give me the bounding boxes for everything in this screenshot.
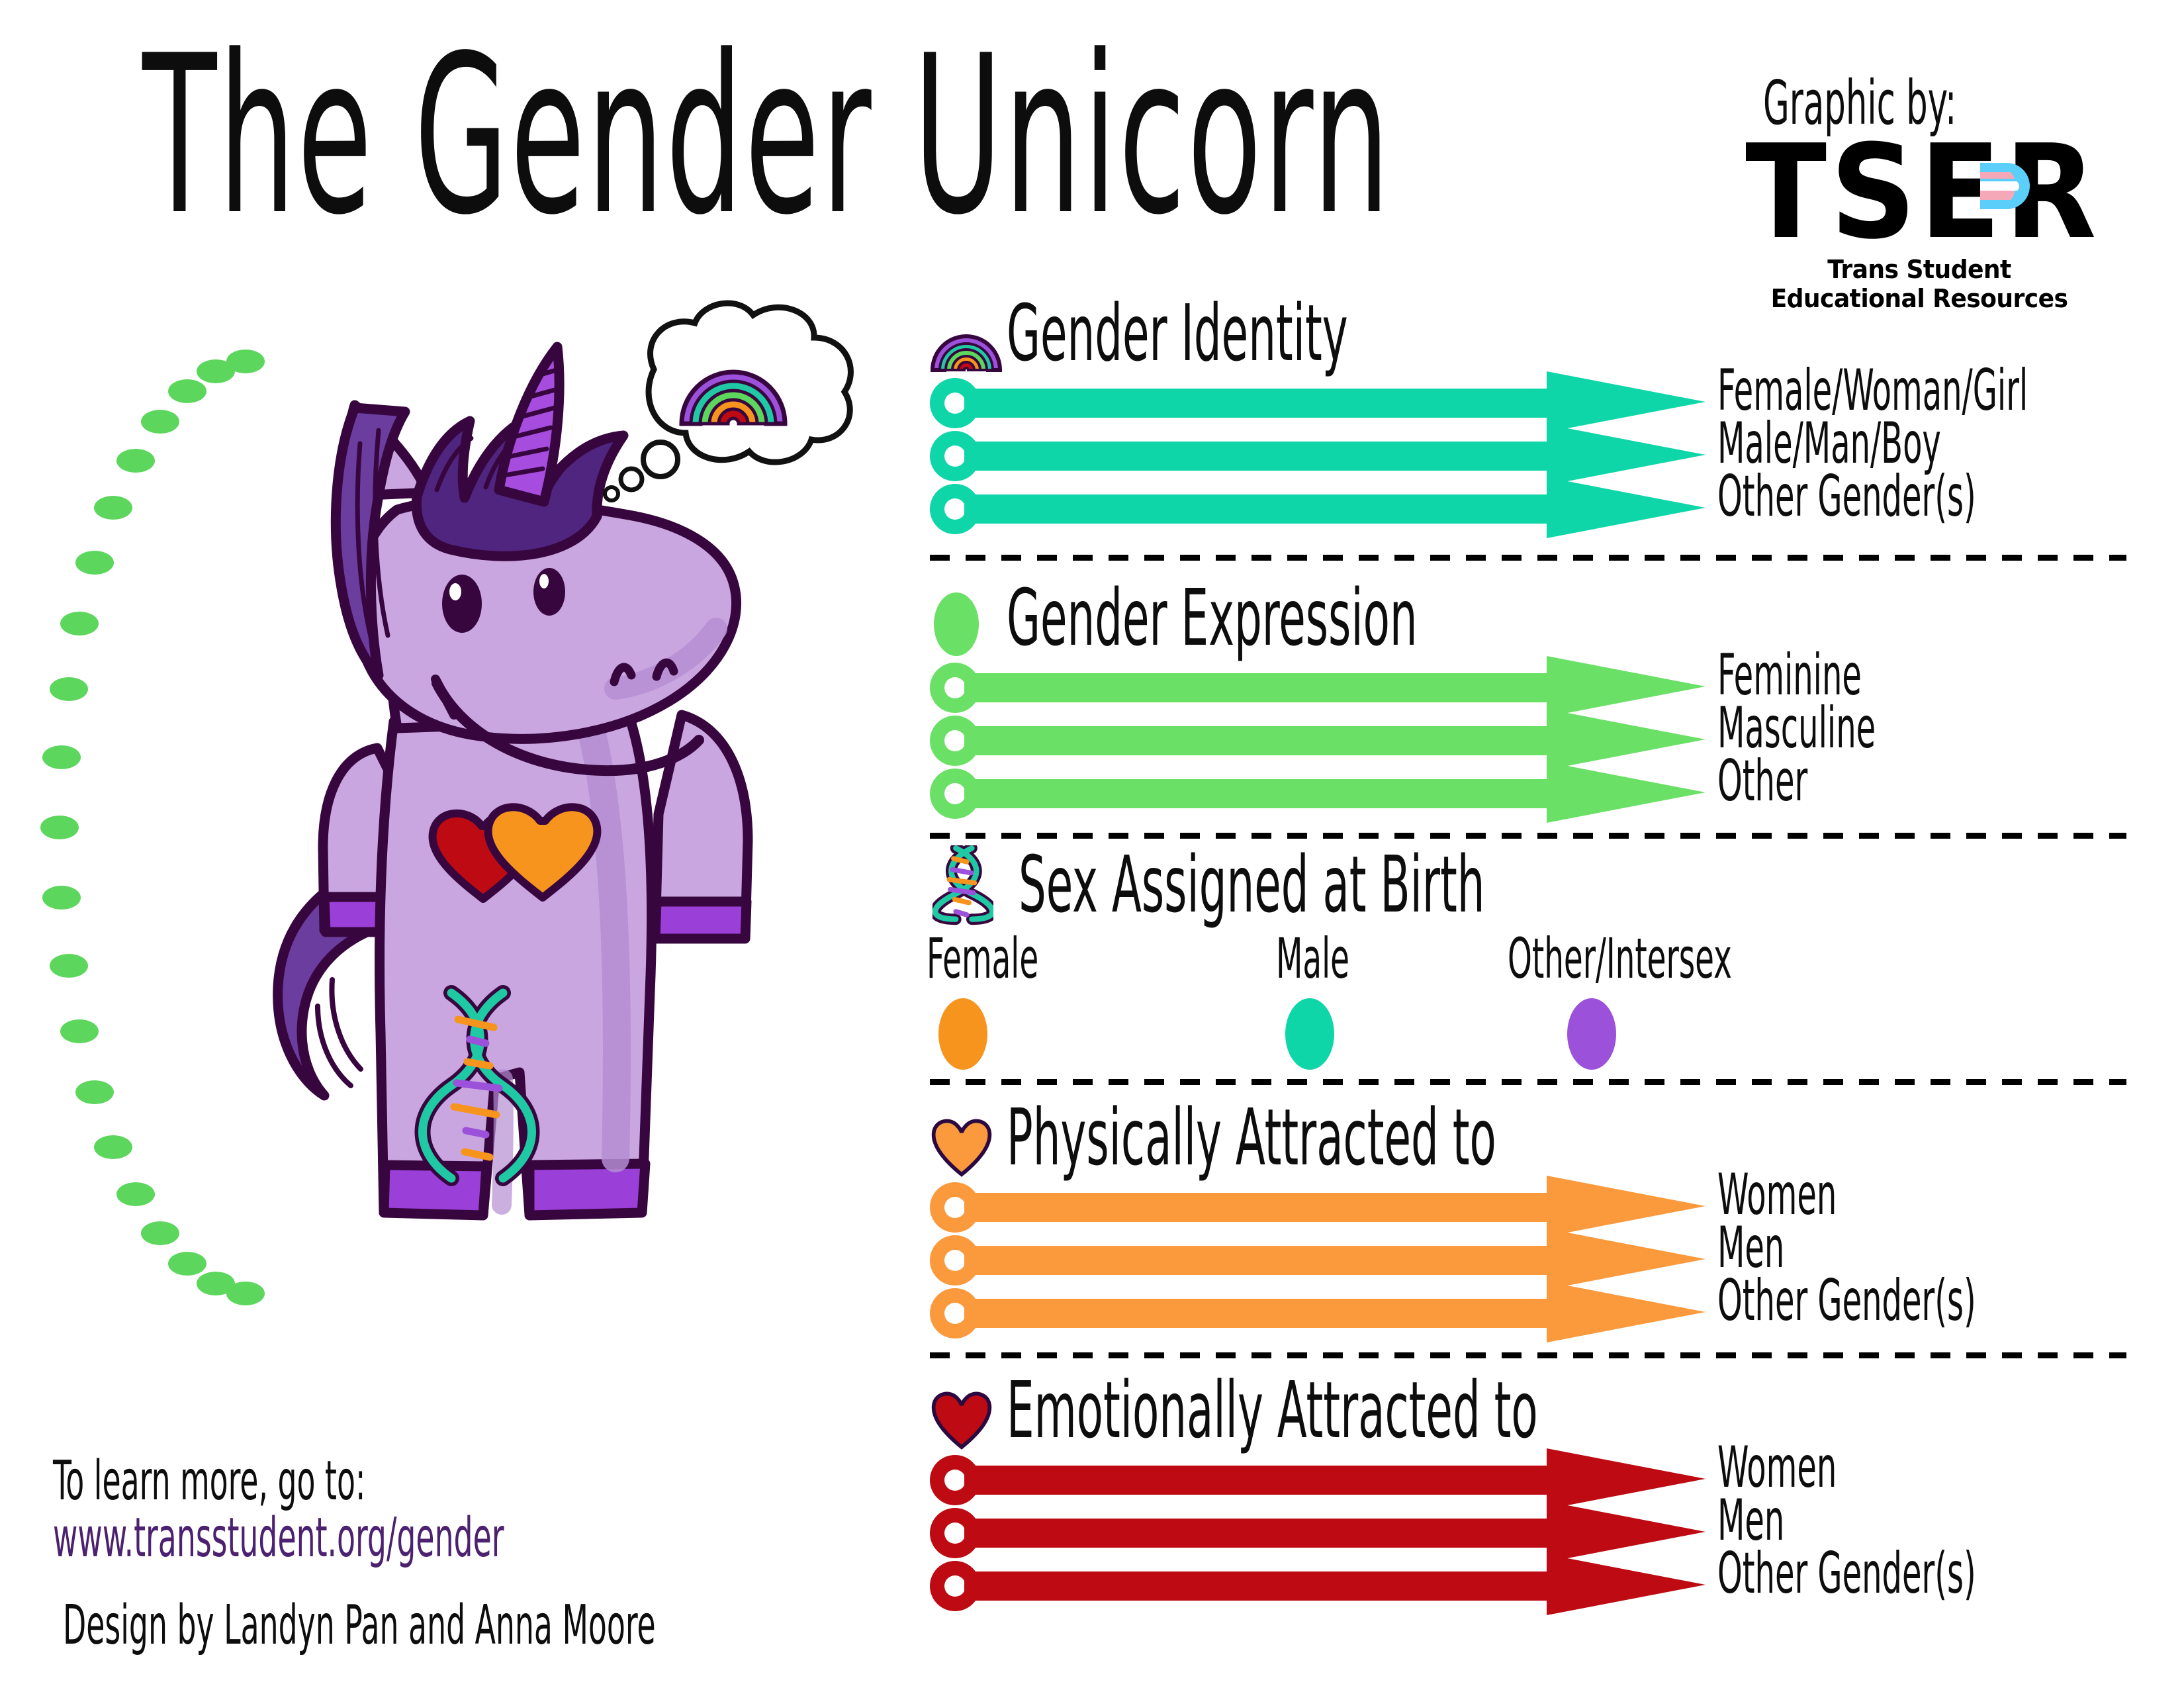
spectrum-row[interactable]: Women xyxy=(930,1462,2141,1499)
section-title: Physically Attracted to xyxy=(1007,1100,1796,1174)
spectrum-arrowhead xyxy=(1547,371,1706,432)
spectrum-label: Other Gender(s) xyxy=(1717,1545,2134,1602)
spectrum-shaft xyxy=(964,389,1547,418)
decorative-dot xyxy=(94,1135,132,1159)
sab-option-male[interactable]: Male xyxy=(1276,931,1394,1070)
decorative-dot xyxy=(116,1182,155,1206)
decorative-dot xyxy=(168,379,206,403)
section-divider xyxy=(930,1352,2126,1358)
sab-option-female[interactable]: Female xyxy=(927,931,1107,1070)
spectrum-arrowhead xyxy=(1547,1282,1706,1342)
decorative-dot xyxy=(42,745,81,769)
spectrum-arrowhead xyxy=(1547,1554,1706,1615)
red-heart-icon xyxy=(930,1378,1003,1451)
spectrum-arrowhead xyxy=(1547,1176,1706,1237)
spectrum-shaft xyxy=(964,1246,1547,1275)
spectrum-shaft xyxy=(964,1519,1547,1548)
spectrum-arrowhead xyxy=(1547,656,1706,717)
section-gender-identity: Gender Identity Female/Woman/Girl Male/M… xyxy=(930,295,2141,543)
section-title: Gender Expression xyxy=(1007,581,1669,655)
spectrum-arrowhead xyxy=(1547,424,1706,485)
page-title-text: The Gender Unicorn xyxy=(142,26,1391,245)
spectrum-row[interactable]: Other Gender(s) xyxy=(930,1295,2141,1332)
sab-option-label: Female xyxy=(927,931,1107,986)
decorative-dot xyxy=(75,551,114,575)
green-circle-icon xyxy=(930,586,1003,659)
spectrum-shaft xyxy=(964,494,1547,524)
section-sex-assigned-at-birth: Sex Assigned at Birth Female Male Other/… xyxy=(930,846,2141,1096)
spectrum-shaft xyxy=(964,1299,1547,1328)
learn-more-block: To learn more, go to: www.transstudent.o… xyxy=(53,1453,780,1567)
spectrum-shaft xyxy=(964,779,1547,808)
spectrum-arrowhead xyxy=(1547,1501,1706,1562)
decorative-dot xyxy=(168,1252,206,1276)
decorative-dot xyxy=(141,1221,179,1245)
decorative-dot xyxy=(60,612,99,635)
decorative-dot xyxy=(94,496,132,520)
rainbow-icon xyxy=(930,301,1003,374)
spectrum-label: Other xyxy=(1717,753,1863,810)
section-title: Gender Identity xyxy=(1007,296,1557,370)
tser-logo: T S E R xyxy=(1747,136,2091,252)
sab-option-other-intersex[interactable]: Other/Intersex xyxy=(1508,931,1870,1070)
tser-letter-s: S xyxy=(1830,136,1912,249)
tser-letter-t: T xyxy=(1745,136,1823,249)
sab-dot[interactable] xyxy=(1285,998,1334,1070)
learn-more-label: To learn more, go to: xyxy=(53,1453,780,1510)
transstudent-url-link[interactable]: www.transstudent.org/gender xyxy=(53,1510,780,1567)
spectrum-row[interactable]: Other Gender(s) xyxy=(930,1568,2141,1605)
spectrum-arrowhead xyxy=(1547,762,1706,823)
section-divider xyxy=(930,833,2126,839)
spectrum-arrowhead xyxy=(1547,709,1706,770)
decorative-dot xyxy=(60,1019,99,1043)
decorative-dot xyxy=(50,954,88,978)
spectrum-shaft xyxy=(964,726,1547,755)
design-credit: Design by Landyn Pan and Anna Moore xyxy=(63,1599,1019,1653)
spectrum-arrowhead xyxy=(1547,1448,1706,1509)
sab-option-label: Other/Intersex xyxy=(1508,931,1870,986)
tser-credit-block: Graphic by: T S E R Trans Student Educat… xyxy=(1747,73,2091,313)
decorative-dot xyxy=(40,816,79,839)
dna-helix-icon xyxy=(930,853,1009,925)
sab-dot[interactable] xyxy=(1567,998,1616,1070)
spectrum-arrowhead xyxy=(1547,477,1706,538)
sab-options: Female Male Other/Intersex xyxy=(930,931,2141,1096)
spectrum-row[interactable]: Women xyxy=(930,1189,2141,1226)
section-title: Sex Assigned at Birth xyxy=(1019,847,1770,921)
spectrum-row[interactable]: Masculine xyxy=(930,722,2141,759)
decorative-dot xyxy=(42,886,81,910)
gender-expression-spectrum-rows: Feminine Masculine Other xyxy=(930,669,2141,812)
spectrum-row[interactable]: Other xyxy=(930,775,2141,812)
thought-bubble xyxy=(582,291,874,530)
trans-flag-icon xyxy=(1980,163,2021,209)
decorative-dot xyxy=(50,677,88,701)
section-physically-attracted-to: Physically Attracted to Women Men Other … xyxy=(930,1099,2141,1348)
spectrum-arrowhead xyxy=(1547,1229,1706,1289)
decorative-dot xyxy=(141,410,179,434)
decorative-dot xyxy=(116,449,155,473)
physical-attraction-spectrum-rows: Women Men Other Gender(s) xyxy=(930,1189,2141,1332)
spectrum-label: Other Gender(s) xyxy=(1717,468,2134,525)
decorative-dot xyxy=(75,1080,114,1104)
spectrum-label: Other Gender(s) xyxy=(1717,1272,2134,1329)
sab-option-label: Male xyxy=(1276,931,1394,986)
spectrum-row[interactable]: Other Gender(s) xyxy=(930,491,2141,528)
section-divider xyxy=(930,1079,2126,1085)
spectrum-shaft xyxy=(964,1193,1547,1222)
section-emotionally-attracted-to: Emotionally Attracted to Women Men Other… xyxy=(930,1372,2141,1620)
sab-dot[interactable] xyxy=(938,998,987,1070)
section-gender-expression: Gender Expression Feminine Masculine Oth… xyxy=(930,579,2141,828)
orange-heart-icon xyxy=(930,1105,1003,1178)
spectrum-shaft xyxy=(964,442,1547,471)
emotional-attraction-spectrum-rows: Women Men Other Gender(s) xyxy=(930,1462,2141,1605)
spectrum-shaft xyxy=(964,1571,1547,1601)
gender-identity-spectrum-rows: Female/Woman/Girl Male/Man/Boy Other Gen… xyxy=(930,385,2141,528)
spectrum-shaft xyxy=(964,1466,1547,1495)
spectrum-shaft xyxy=(964,673,1547,702)
section-divider xyxy=(930,555,2126,561)
